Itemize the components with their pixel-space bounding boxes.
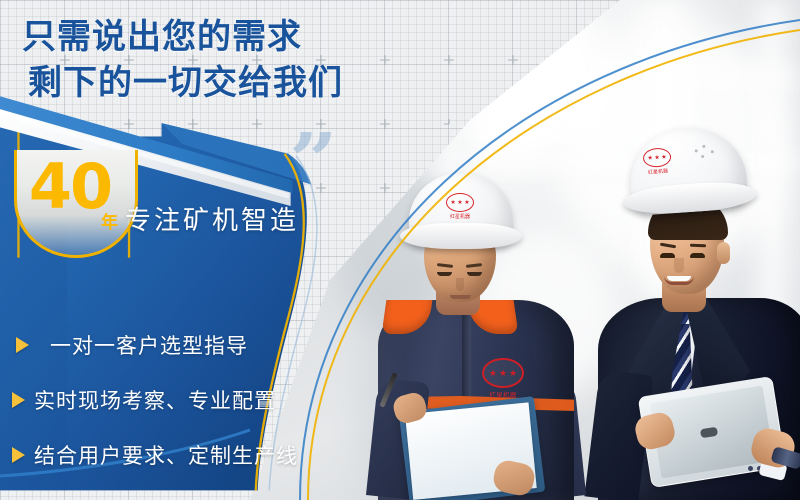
triangle-right-icon <box>12 447 25 463</box>
headline-line-1: 只需说出您的需求 <box>22 14 402 60</box>
quote-mark-icon: ” <box>289 136 338 188</box>
tagline: 专注矿机智造 <box>125 200 299 237</box>
list-item: 实时现场考察、专业配置 <box>12 385 312 415</box>
triangle-right-icon <box>16 337 35 353</box>
feature-list: 一对一客户选型指导 实时现场考察、专业配置 结合用户要求、定制生产线 <box>12 330 312 495</box>
list-item-label: 一对一客户选型指导 <box>44 330 248 360</box>
headline-line-2: 剩下的一切交给我们 <box>22 60 402 106</box>
headline: 只需说出您的需求 剩下的一切交给我们 <box>22 14 402 106</box>
anniversary-years-number: 40 <box>17 156 141 218</box>
list-item: 一对一客户选型指导 <box>12 330 312 360</box>
triangle-right-icon <box>12 392 25 408</box>
anniversary-badge-shield: 40 年 <box>14 150 138 258</box>
list-item-label: 实时现场考察、专业配置 <box>34 385 276 415</box>
anniversary-badge: 40 年 <box>14 150 138 258</box>
list-item: 结合用户要求、定制生产线 <box>12 440 312 470</box>
promo-banner: ★★★ 红星机器 ★★★ 红星机器 <box>0 0 800 500</box>
list-item-label: 结合用户要求、定制生产线 <box>34 440 298 470</box>
anniversary-years-unit: 年 <box>101 208 118 233</box>
